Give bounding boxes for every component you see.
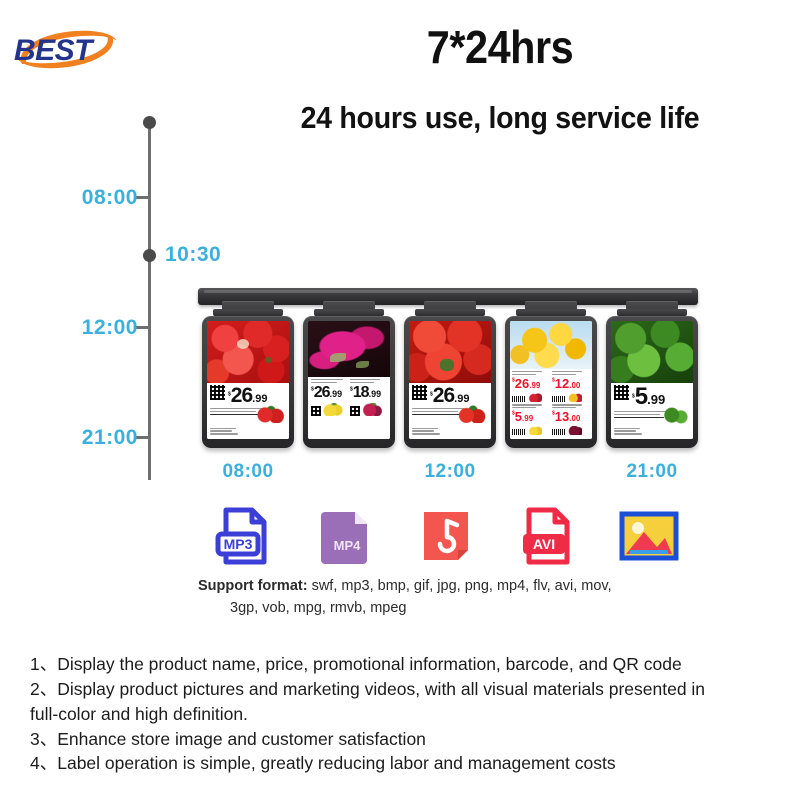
display-panel-5[interactable]: $5.99 <box>606 301 698 448</box>
product-photo-strawberries <box>207 321 289 383</box>
price-value: $26.99 <box>228 385 267 406</box>
mp3-file-icon: MP3 <box>208 500 280 572</box>
display-bezel-5: $5.99 <box>606 316 698 448</box>
mp4-label: MP4 <box>334 538 362 553</box>
display-shelf: $26.99 <box>198 288 698 463</box>
avi-label: AVI <box>533 536 555 552</box>
product-photo-broccoli <box>611 321 693 383</box>
product-photo-tomatoes <box>409 321 491 383</box>
price-cell-a: $26.99 <box>311 379 348 437</box>
mount-bracket-5 <box>626 301 678 316</box>
qr-code-icon <box>210 385 225 400</box>
timeline-axis <box>148 122 151 480</box>
qr-code-icon <box>412 385 427 400</box>
svg-text:BEST: BEST <box>14 34 95 67</box>
feature-item-2-cont: full-color and high definition. <box>30 702 778 727</box>
timeline-label-1030: 10:30 <box>165 243 221 267</box>
feature-item-4: 4、Label operation is simple, greatly red… <box>30 751 778 776</box>
support-format-line2: 3gp, vob, mpg, rmvb, mpeg <box>198 597 718 619</box>
product-thumbnail <box>528 393 542 402</box>
timeline-label-0800: 08:00 <box>82 186 138 210</box>
best-logo-graphic: BEST <box>8 16 126 82</box>
best-logo: BEST <box>8 16 126 82</box>
mount-bracket-3 <box>424 301 476 316</box>
display-screen-5: $5.99 <box>611 321 693 439</box>
support-format-text: Support format: swf, mp3, bmp, gif, jpg,… <box>198 575 718 620</box>
barcode-icon <box>552 396 566 402</box>
display-bezel-2: $26.99 $18.99 <box>303 316 395 448</box>
barcode-icon <box>512 396 526 402</box>
support-format-prefix: Support format: <box>198 578 308 594</box>
qr-code-icon <box>350 406 360 416</box>
display-screen-2: $26.99 $18.99 <box>308 321 390 439</box>
display-panel-2[interactable]: $26.99 $18.99 <box>303 301 395 448</box>
timeline-label-2100: 21:00 <box>82 426 138 450</box>
page-title: 7*24hrs <box>230 20 770 74</box>
product-thumbnail <box>662 407 690 425</box>
barcode-icon <box>512 429 526 435</box>
supported-format-icons: MP3 MP4 AVI <box>198 500 698 572</box>
feature-list: 1、Display the product name, price, promo… <box>30 652 778 776</box>
price-label-3: $26.99 <box>409 383 491 439</box>
music-note-icon <box>410 500 482 572</box>
mount-bracket-4 <box>525 301 577 316</box>
qr-code-icon <box>311 406 321 416</box>
avi-file-icon: AVI <box>511 500 583 572</box>
display-panel-1[interactable]: $26.99 <box>202 301 294 448</box>
support-format-line1: swf, mp3, bmp, gif, jpg, png, mp4, flv, … <box>308 578 612 594</box>
mount-bracket-2 <box>323 301 375 316</box>
promo-grid-4: $26.99 $12.0 <box>510 369 592 439</box>
display-screen-1: $26.99 <box>207 321 289 439</box>
display-caption-5: 21:00 <box>606 461 698 483</box>
rail-highlight <box>204 290 692 293</box>
promo-cell-1: $26.99 <box>512 371 550 402</box>
display-panel-3[interactable]: $26.99 <box>404 301 496 448</box>
product-thumbnail <box>362 403 382 416</box>
mount-bracket-1 <box>222 301 274 316</box>
promo-cell-3: $5.99 <box>512 404 550 435</box>
mp3-label: MP3 <box>224 536 253 552</box>
price-label-5: $5.99 <box>611 383 693 439</box>
promo-cell-2: $12.00 <box>552 371 590 402</box>
product-photo-lemons <box>510 321 592 369</box>
display-caption-1: 08:00 <box>202 461 294 483</box>
price-label-1: $26.99 <box>207 383 289 439</box>
price-value: $26.99 <box>430 385 469 406</box>
product-thumbnail <box>568 393 582 402</box>
page-subtitle: 24 hours use, long service life <box>224 100 776 136</box>
barcode-icon <box>552 429 566 435</box>
product-photo-dragonfruit <box>308 321 390 377</box>
qr-code-icon <box>614 385 629 400</box>
timeline-dot-1030 <box>143 249 156 262</box>
timeline-label-1200: 12:00 <box>82 316 138 340</box>
display-caption-3: 12:00 <box>404 461 496 483</box>
product-thumbnail <box>528 426 542 435</box>
feature-item-3: 3、Enhance store image and customer satis… <box>30 727 778 752</box>
feature-item-1: 1、Display the product name, price, promo… <box>30 652 778 677</box>
timeline-top-dot <box>143 116 156 129</box>
price-value: $5.99 <box>632 385 665 409</box>
display-bezel-4: $26.99 $12.0 <box>505 316 597 448</box>
image-file-icon <box>612 500 684 572</box>
display-bezel-1: $26.99 <box>202 316 294 448</box>
product-thumbnail <box>256 405 286 423</box>
product-feature-slide: BEST 7*24hrs 24 hours use, long service … <box>0 0 800 800</box>
timeline: 08:00 10:30 12:00 21:00 <box>120 112 210 482</box>
display-screen-4: $26.99 $12.0 <box>510 321 592 439</box>
product-thumbnail <box>323 403 343 416</box>
promo-cell-4: $13.00 <box>552 404 590 435</box>
feature-item-2: 2、Display product pictures and marketing… <box>30 677 778 702</box>
price-label-2: $26.99 $18.99 <box>308 377 390 439</box>
display-screen-3: $26.99 <box>409 321 491 439</box>
display-panel-4[interactable]: $26.99 $12.0 <box>505 301 597 448</box>
display-bezel-3: $26.99 <box>404 316 496 448</box>
mp4-file-icon: MP4 <box>309 500 381 572</box>
price-cell-b: $18.99 <box>350 379 387 437</box>
product-thumbnail <box>458 405 488 423</box>
product-thumbnail <box>568 426 582 435</box>
